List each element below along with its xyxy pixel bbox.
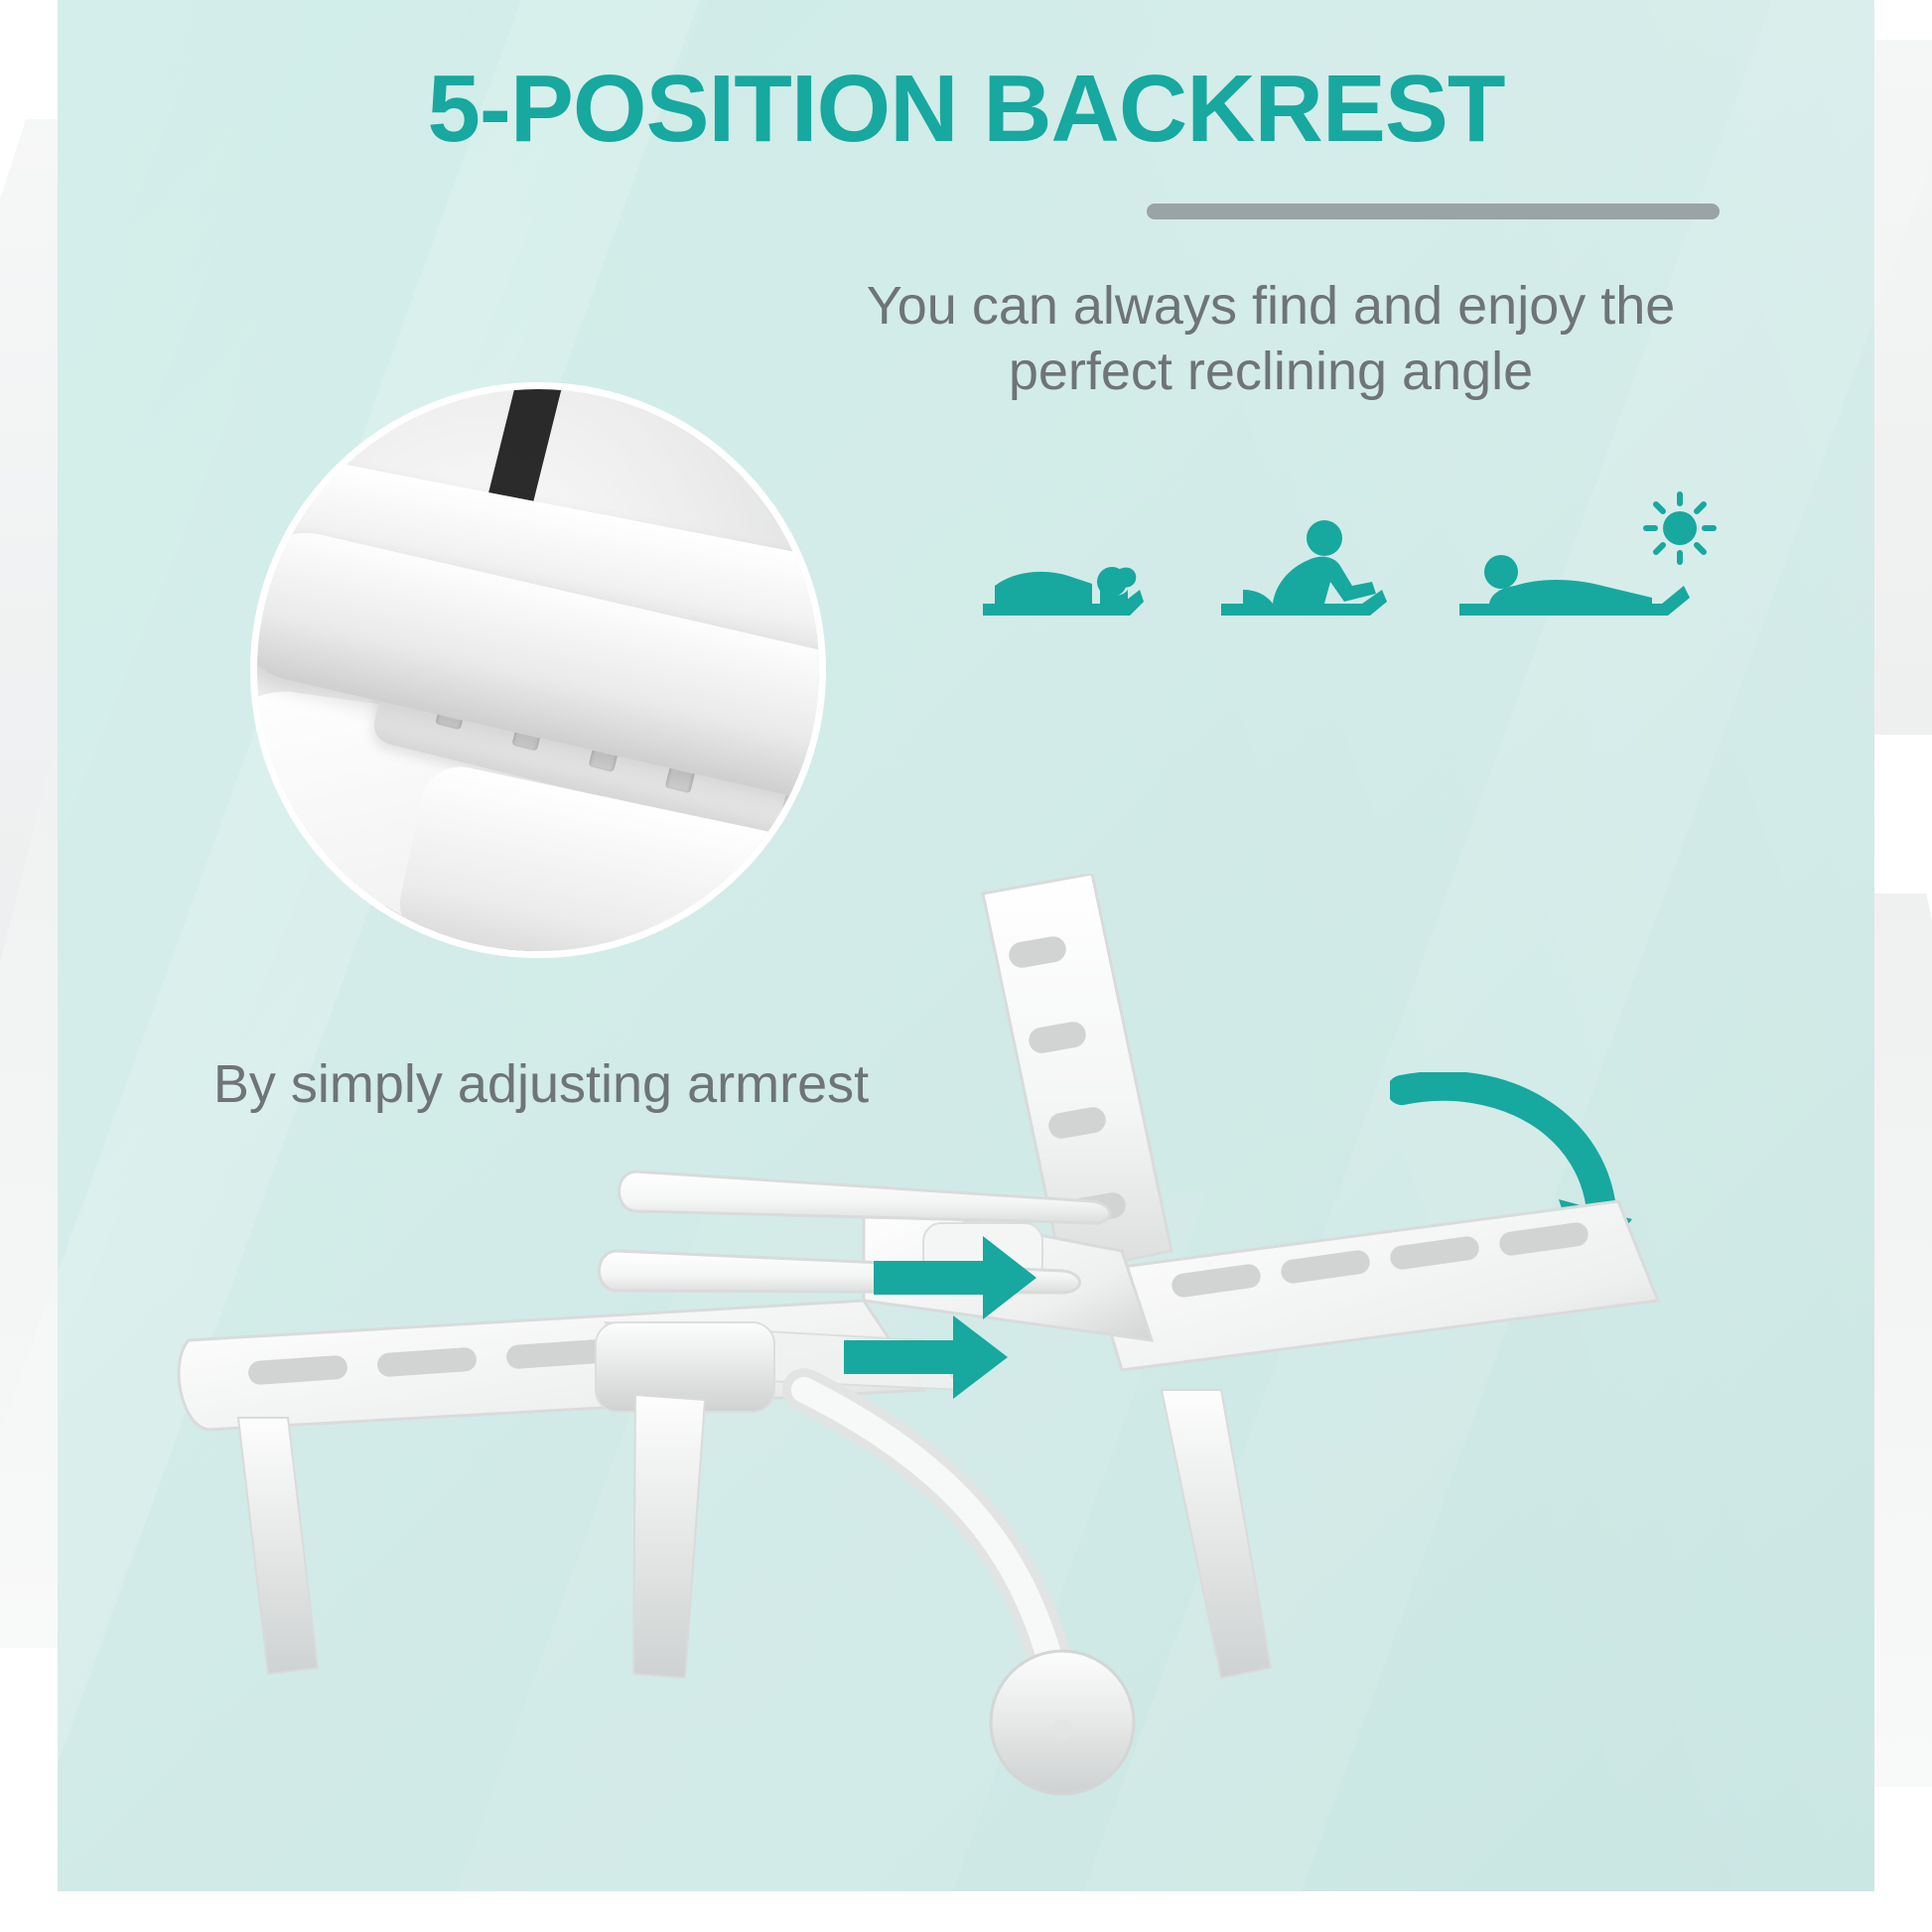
page-title: 5-POSITION BACKREST bbox=[0, 60, 1932, 160]
person-reclined-icon bbox=[1213, 486, 1432, 665]
chair-middle-leg bbox=[633, 1395, 705, 1678]
product-infographic-poster: 5-POSITION BACKREST You can always find … bbox=[0, 0, 1932, 1932]
title-divider bbox=[1147, 204, 1720, 219]
armrest-closeup-photo bbox=[250, 382, 826, 958]
folding-recliner-lounge-chair bbox=[169, 874, 1777, 1866]
sun-icon bbox=[1646, 494, 1714, 562]
chair-rear-leg bbox=[1162, 1390, 1271, 1678]
subtitle-text: You can always find and enjoy the perfec… bbox=[814, 274, 1727, 405]
chair-support-bar bbox=[804, 1390, 1052, 1668]
chair-armrest-upper bbox=[620, 1172, 1110, 1223]
reclining-position-pictograms bbox=[973, 486, 1767, 665]
chair-wheel bbox=[991, 1651, 1134, 1794]
chair-front-leg-left bbox=[238, 1418, 318, 1674]
chair-legrest-panel bbox=[1092, 1201, 1658, 1370]
person-sunbathing-icon bbox=[1453, 486, 1672, 665]
person-lying-flat-icon bbox=[973, 486, 1191, 665]
